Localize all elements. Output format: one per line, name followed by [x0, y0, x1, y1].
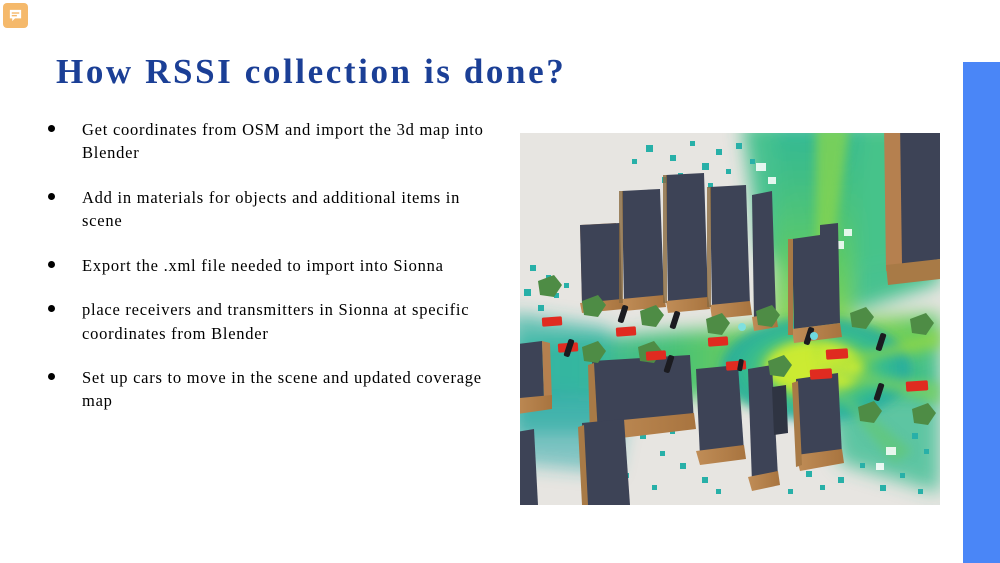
page-title: How RSSI collection is done?	[56, 52, 566, 92]
bullet-dot-icon	[48, 305, 55, 312]
bullet-list: Get coordinates from OSM and import the …	[38, 118, 488, 413]
accent-bar	[963, 62, 1000, 563]
list-item-label: Export the .xml file needed to import in…	[82, 256, 444, 275]
bullet-dot-icon	[48, 125, 55, 132]
list-item-label: Add in materials for objects and additio…	[82, 188, 460, 230]
list-item: Set up cars to move in the scene and upd…	[38, 366, 488, 413]
list-item: Export the .xml file needed to import in…	[38, 254, 488, 277]
comment-badge[interactable]	[3, 3, 28, 28]
bullet-dot-icon	[48, 261, 55, 268]
list-item-label: Get coordinates from OSM and import the …	[82, 120, 484, 162]
list-item: Get coordinates from OSM and import the …	[38, 118, 488, 165]
list-item: place receivers and transmitters in Sion…	[38, 298, 488, 345]
bullet-dot-icon	[48, 193, 55, 200]
coverage-map-image	[520, 133, 940, 505]
list-item: Add in materials for objects and additio…	[38, 186, 488, 233]
list-item-label: place receivers and transmitters in Sion…	[82, 300, 469, 342]
list-item-label: Set up cars to move in the scene and upd…	[82, 368, 482, 410]
comment-bubble-icon	[8, 8, 23, 23]
bullet-dot-icon	[48, 373, 55, 380]
